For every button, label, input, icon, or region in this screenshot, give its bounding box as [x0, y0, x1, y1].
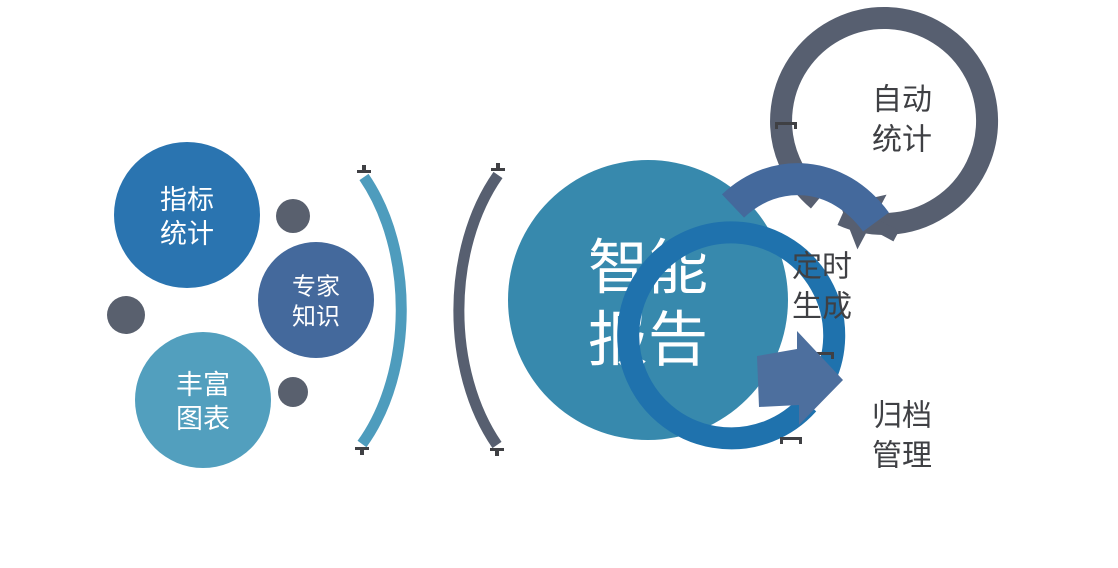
- circle-rich-charts-label-line2: 图表: [176, 404, 230, 434]
- diagram-canvas: 指标 统计 丰富 图表 专家 知识: [0, 0, 1118, 568]
- diagram-svg: 指标 统计 丰富 图表 专家 知识: [0, 0, 1118, 568]
- dot-lower-icon: [278, 377, 308, 407]
- circle-expert-knowledge-label-line1: 专家: [292, 274, 340, 301]
- circle-metrics[interactable]: 指标 统计: [114, 142, 260, 288]
- bracket-right-gray-curve: [459, 175, 498, 445]
- circle-metrics-label-line2: 统计: [160, 219, 214, 249]
- ring-auto-statistics-label-line1: 自动: [872, 84, 932, 117]
- circle-expert-knowledge[interactable]: 专家 知识: [258, 242, 374, 358]
- dot-upper-icon: [276, 199, 310, 233]
- dot-left-icon: [107, 296, 145, 334]
- circle-expert-knowledge-label-line2: 知识: [292, 304, 340, 331]
- circle-rich-charts[interactable]: 丰富 图表: [135, 332, 271, 468]
- circle-rich-charts-label-line1: 丰富: [176, 370, 230, 400]
- circle-rich-charts-shape: [135, 332, 271, 468]
- circle-metrics-shape: [114, 142, 260, 288]
- label-scheduled-generation-line1: 定时: [792, 251, 852, 284]
- ring-auto-statistics-label-line2: 统计: [872, 124, 932, 157]
- center-node-label-line2: 报告: [588, 307, 708, 374]
- circle-metrics-label-line1: 指标: [160, 185, 214, 215]
- label-scheduled-generation-line2: 生成: [792, 291, 852, 324]
- ring-archive-management-label-line2: 管理: [872, 440, 932, 473]
- ring-auto-statistics[interactable]: 自动 统计: [775, 18, 987, 263]
- bracket-right-gray-handles[interactable]: [490, 163, 505, 456]
- bracket-right-gray[interactable]: [459, 163, 505, 456]
- ring-archive-management-label-line1: 归档: [872, 400, 932, 433]
